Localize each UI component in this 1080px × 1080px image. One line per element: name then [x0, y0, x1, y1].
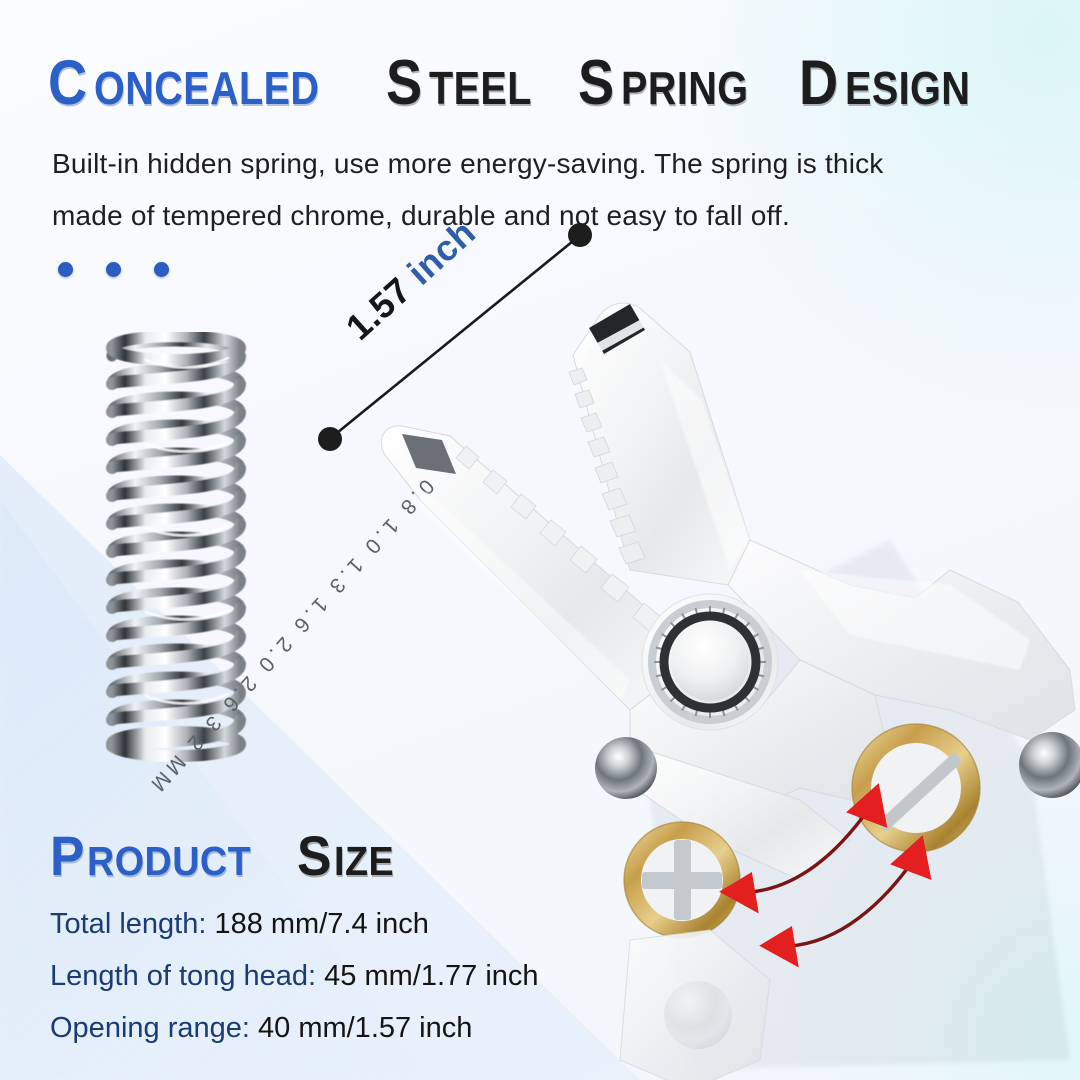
spec-row: Total length: 188 mm/7.4 inch	[50, 898, 539, 950]
psize-cap-p: P	[50, 828, 84, 884]
spec-row: Opening range: 40 mm/1.57 inch	[50, 1002, 539, 1054]
description-line-1: Built-in hidden spring, use more energy-…	[52, 138, 1002, 190]
pivot-ring	[642, 594, 778, 730]
divider-dot-2	[106, 262, 121, 277]
title-word-concealed: CONCEALED	[48, 52, 356, 115]
opening-motion-arrows	[690, 770, 970, 980]
divider-dot-3	[154, 262, 169, 277]
divider-dot-1	[58, 262, 73, 277]
psize-word-product: PRODUCT	[50, 862, 266, 879]
psize-rest-ize: IZE	[334, 841, 394, 882]
title-word-spring: SPRING	[578, 52, 769, 115]
title-cap-c: C	[48, 52, 88, 115]
title-rest-oncealed: ONCEALED	[94, 65, 319, 111]
product-size-title: PRODUCT SIZE	[50, 828, 399, 884]
motion-arrow-lower	[756, 828, 943, 967]
motion-arrow-upper	[716, 776, 899, 913]
spec-value: 45 mm/1.77 inch	[324, 960, 538, 992]
measure-endpoint-start	[318, 427, 342, 451]
title-rest-esign: ESIGN	[845, 65, 970, 111]
psize-cap-s: S	[297, 828, 331, 884]
title-word-design: DESIGN	[799, 52, 991, 115]
psize-rest-roduct: RODUCT	[87, 841, 251, 882]
title-cap-s1: S	[386, 52, 423, 115]
measure-endpoint-end	[568, 223, 592, 247]
spec-label: Length of tong head:	[50, 960, 316, 992]
page-title: CONCEALED STEEL SPRING DESIGN	[48, 52, 1058, 115]
title-rest-teel: TEEL	[429, 65, 532, 111]
title-word-steel: STEEL	[386, 52, 548, 115]
psize-word-size: SIZE	[297, 862, 400, 879]
title-cap-s2: S	[578, 52, 615, 115]
title-rest-pring: PRING	[621, 65, 748, 111]
product-size-specs: Total length: 188 mm/7.4 inch Length of …	[50, 898, 539, 1054]
spec-label: Total length:	[50, 908, 206, 940]
title-cap-d: D	[799, 52, 839, 115]
dot-divider	[58, 262, 169, 277]
spec-value: 40 mm/1.57 inch	[258, 1012, 472, 1044]
infographic-canvas: CONCEALED STEEL SPRING DESIGN Built-in h…	[0, 0, 1080, 1080]
spec-row: Length of tong head: 45 mm/1.77 inch	[50, 950, 539, 1002]
spec-label: Opening range:	[50, 1012, 250, 1044]
ball-rivet-left	[595, 737, 657, 799]
spec-value: 188 mm/7.4 inch	[214, 908, 428, 940]
